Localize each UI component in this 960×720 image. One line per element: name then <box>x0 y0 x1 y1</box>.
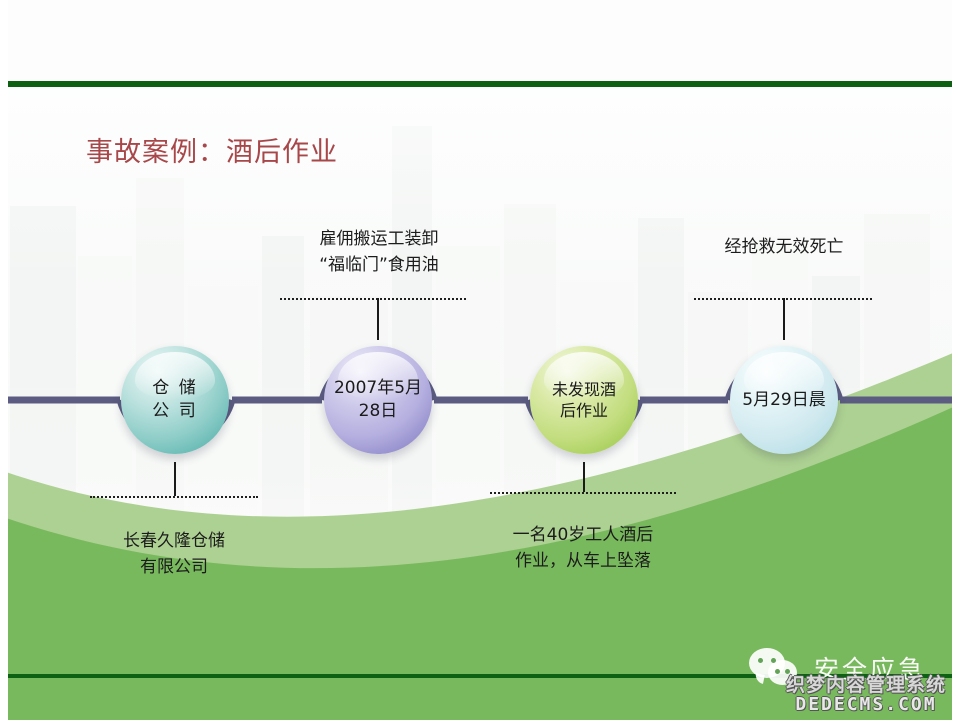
dedecms-watermark: 织梦内容管理系统 DEDECMS.COM <box>786 675 946 714</box>
timeline-node-date-05-29-morning[interactable]: 5月29日晨 <box>730 346 838 454</box>
timeline-node-not-detected[interactable]: 未发现酒 后作业 <box>530 346 638 454</box>
page-title: 事故案例：酒后作业 <box>86 130 338 169</box>
callout-dotted-line <box>280 298 466 300</box>
timeline-node-warehouse-company[interactable]: 仓 储 公 司 <box>121 346 229 454</box>
page-right-margin <box>952 0 960 720</box>
callout-stem <box>174 462 176 496</box>
callout-stem <box>583 462 585 492</box>
callout-hired-loaders: 雇佣搬运工装卸 “福临门”食用油 <box>286 226 472 279</box>
page-left-margin <box>0 0 8 720</box>
callout-stem <box>783 298 785 340</box>
node-label: 2007年5月 28日 <box>334 377 422 423</box>
callout-death: 经抢救无效死亡 <box>694 234 874 260</box>
node-label: 未发现酒 后作业 <box>552 379 616 422</box>
timeline-node-date-2007-05-28[interactable]: 2007年5月 28日 <box>324 346 432 454</box>
callout-dotted-line <box>90 496 258 498</box>
callout-company-name: 长春久隆仓储 有限公司 <box>84 528 264 581</box>
node-label: 仓 储 公 司 <box>152 377 197 423</box>
header-white-band <box>0 0 960 81</box>
header-green-rule <box>8 81 952 87</box>
node-label: 5月29日晨 <box>742 389 825 412</box>
callout-dotted-line <box>490 492 676 494</box>
callout-worker-fall: 一名40岁工人酒后 作业，从车上坠落 <box>480 522 686 575</box>
slide-canvas: 事故案例：酒后作业 仓 储 公 司 2007年5月 28日 <box>0 0 960 720</box>
watermark-en: DEDECMS.COM <box>786 695 946 714</box>
watermark-cn: 织梦内容管理系统 <box>786 675 946 695</box>
callout-stem <box>377 298 379 340</box>
